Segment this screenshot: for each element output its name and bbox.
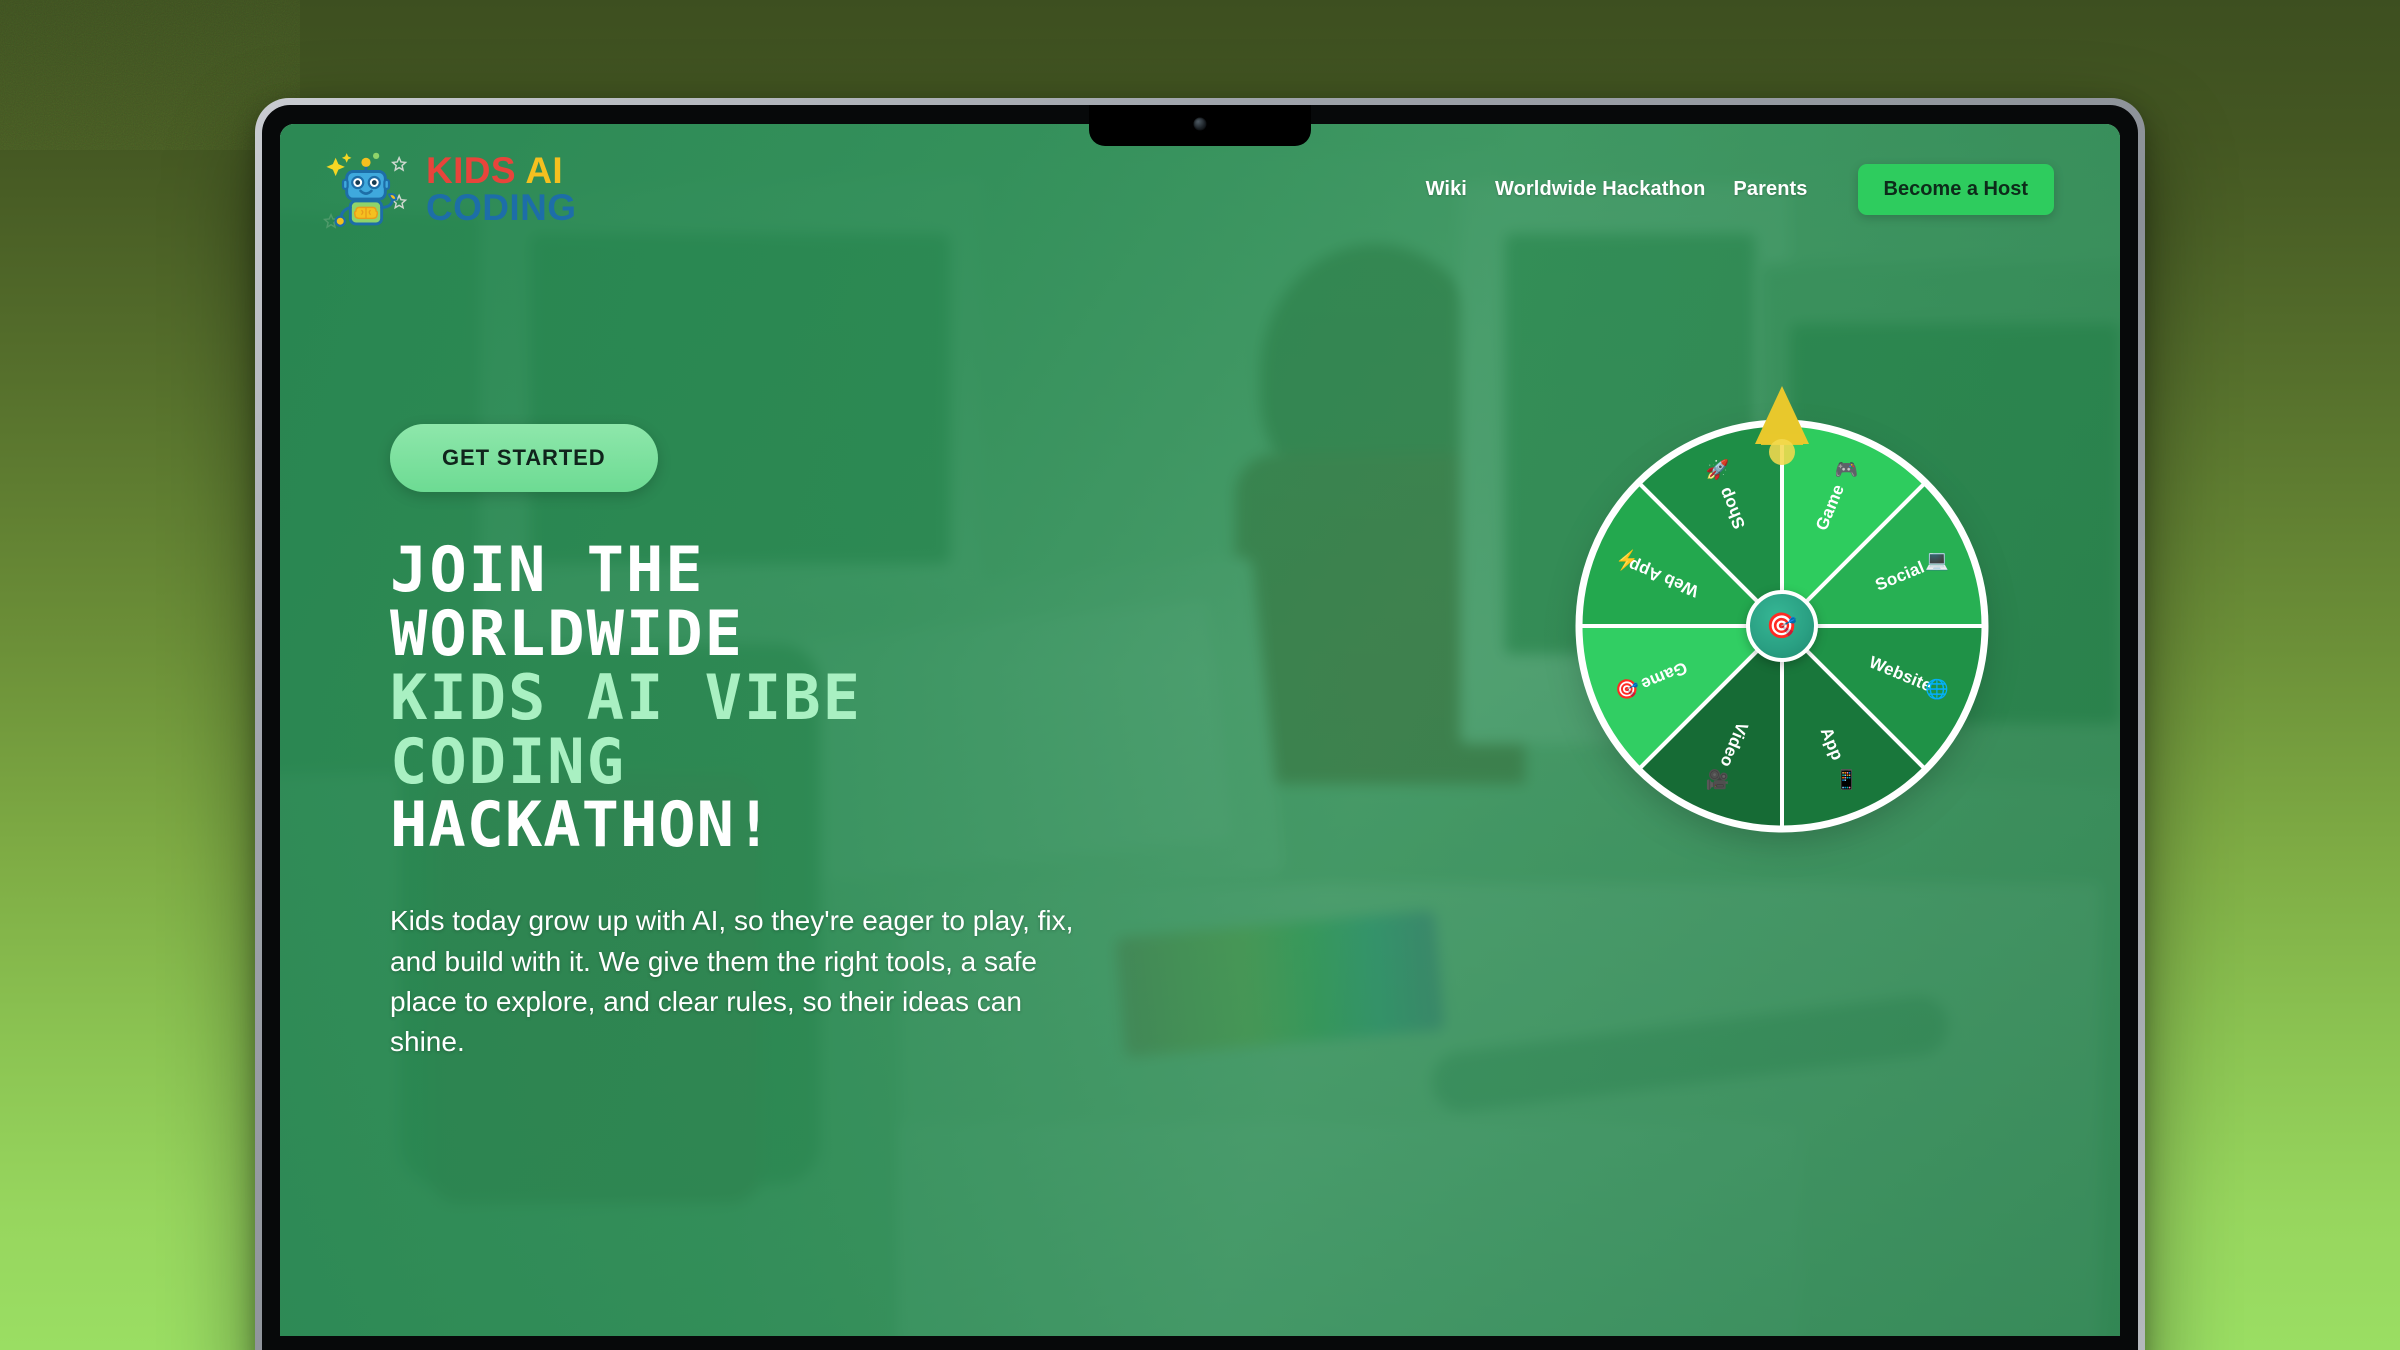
become-a-host-button[interactable]: Become a Host (1858, 164, 2055, 215)
browser-screen: KIDS AI CODING Wiki Worldwide Hackathon … (280, 124, 2120, 1336)
nav-item-wiki[interactable]: Wiki (1426, 178, 1467, 201)
webcam-icon (1194, 118, 1207, 131)
logo-ai-text: AI (525, 150, 563, 191)
wheel-segment-icon: 🚀 (1706, 458, 1730, 481)
headline-line-4: CODING (390, 730, 1270, 794)
wheel-segment-icon: 🎮 (1834, 460, 1858, 481)
nav-item-parents[interactable]: Parents (1733, 178, 1807, 201)
laptop-device-frame: KIDS AI CODING Wiki Worldwide Hackathon … (255, 98, 2145, 1350)
headline-line-3: KIDS AI VIBE (390, 666, 1270, 730)
hero-content: GET STARTED JOIN THE WORLDWIDE KIDS AI V… (390, 424, 1270, 1063)
wheel-center-hub[interactable]: 🎯 (1746, 590, 1818, 662)
triangle-pointer-icon (1751, 382, 1813, 468)
hero-headline: JOIN THE WORLDWIDE KIDS AI VIBE CODING H… (390, 538, 1270, 857)
hero-paragraph: Kids today grow up with AI, so they're e… (390, 901, 1090, 1062)
get-started-button[interactable]: GET STARTED (390, 424, 658, 492)
logo-wordmark: KIDS AI CODING (426, 152, 576, 226)
laptop-notch (1089, 105, 1311, 146)
wheel-segment-icon: 🌐 (1925, 677, 1949, 700)
nav-item-worldwide-hackathon[interactable]: Worldwide Hackathon (1495, 178, 1705, 201)
robot-mascot-icon (320, 143, 412, 235)
hero-section: GET STARTED JOIN THE WORLDWIDE KIDS AI V… (280, 124, 2120, 1336)
site-logo[interactable]: KIDS AI CODING (320, 143, 576, 235)
wheel-segment-icon: 🎯 (1615, 678, 1639, 700)
logo-coding-text: CODING (426, 189, 576, 226)
headline-line-1: JOIN THE (390, 538, 1270, 602)
wheel-segment-icon: 📱 (1834, 768, 1858, 791)
headline-line-5: HACKATHON! (390, 793, 1270, 857)
laptop-bezel: KIDS AI CODING Wiki Worldwide Hackathon … (262, 105, 2138, 1350)
headline-line-2: WORLDWIDE (390, 602, 1270, 666)
wheel-segment-icon: 🎥 (1706, 768, 1730, 791)
logo-kids-text: KIDS (426, 150, 516, 191)
nav-links: Wiki Worldwide Hackathon Parents Become … (1426, 164, 2054, 215)
wheel-segment-icon: 💻 (1925, 551, 1949, 572)
wheel-segment-icon: ⚡ (1615, 549, 1639, 572)
spin-wheel[interactable]: Game🎮Social💻Website🌐App📱Video🎥Game🎯Web A… (1572, 416, 1992, 836)
